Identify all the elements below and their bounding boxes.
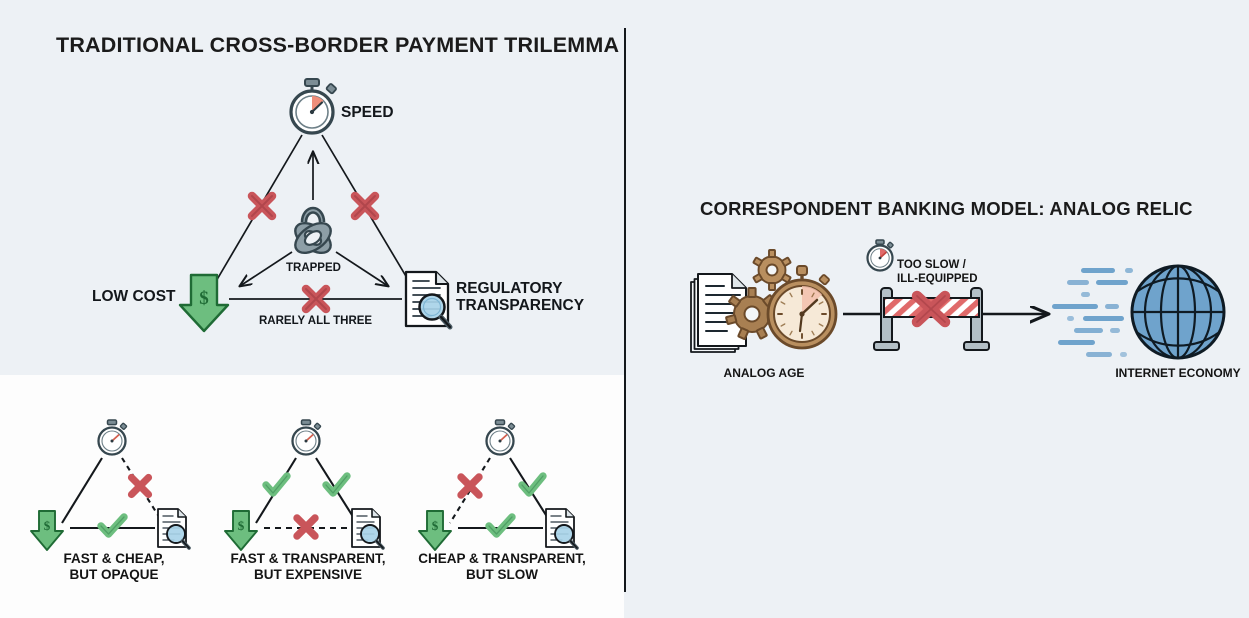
road-barrier-icon (874, 288, 989, 350)
caption-line1: FAST & TRANSPARENT, (230, 551, 385, 566)
arrow-to-lowcost (240, 252, 292, 286)
edge-mark-check (489, 517, 512, 534)
caption-line1: CHEAP & TRANSPARENT, (418, 551, 586, 566)
scenario-caption-fast-and-transparent: FAST & TRANSPARENT, BUT EXPENSIVE (208, 551, 408, 584)
document-magnifier-icon (158, 509, 189, 548)
caption-line2: BUT OPAQUE (69, 567, 158, 582)
rarely-all-three-label: RARELY ALL THREE (259, 315, 372, 328)
dollar-down-arrow-icon: $ (180, 275, 228, 331)
left-panel: TRADITIONAL CROSS-BORDER PAYMENT TRILEMM… (0, 0, 624, 618)
scenario-caption-fast-and-cheap: FAST & CHEAP, BUT OPAQUE (14, 551, 214, 584)
scenario-caption-cheap-and-transparent: CHEAP & TRANSPARENT, BUT SLOW (402, 551, 602, 584)
scenario-cheap-and-transparent: $ (419, 420, 577, 550)
document-magnifier-icon (546, 509, 577, 548)
document-magnifier-icon (352, 509, 383, 548)
edge-mark-check (101, 517, 124, 534)
svg-text:$: $ (44, 518, 51, 533)
stopwatch-icon (487, 420, 515, 455)
stopwatch-icon (868, 240, 894, 271)
barrier-note-line2: ILL-EQUIPPED (897, 273, 978, 285)
arrow-to-regulatory (336, 252, 388, 286)
node-label-regulatory-transparency: REGULATORY TRANSPARENCY (456, 280, 584, 315)
stopwatch-icon (293, 420, 321, 455)
svg-text:$: $ (238, 518, 245, 533)
scenarios-diagram: $ (0, 408, 624, 568)
edge-cost-to-speed (62, 458, 102, 523)
caption-line2: BUT EXPENSIVE (254, 567, 362, 582)
barrier-note-line1: TOO SLOW / (897, 259, 966, 271)
edge-mark-check (266, 476, 287, 493)
globe-icon (1132, 266, 1224, 358)
scenario-fast-and-transparent: $ (225, 420, 383, 550)
node-label-regulatory-line2: TRANSPARENCY (456, 297, 584, 314)
node-label-regulatory-line1: REGULATORY (456, 280, 563, 297)
scenario-fast-and-cheap: $ (31, 420, 189, 550)
stopwatch-icon (291, 79, 337, 133)
caption-line2: BUT SLOW (466, 567, 538, 582)
trapped-label: TRAPPED (286, 262, 341, 275)
barrier-note: TOO SLOW / ILL-EQUIPPED (897, 258, 978, 286)
svg-text:$: $ (432, 518, 439, 533)
right-panel: CORRESPONDENT BANKING MODEL: ANALOG RELI… (626, 0, 1249, 618)
edge-mark-x-speed-lowcost (252, 196, 272, 216)
internet-economy-label: INTERNET ECONOMY (1078, 366, 1249, 380)
dollar-down-arrow-icon: $ (225, 511, 257, 550)
svg-text:$: $ (199, 288, 209, 309)
speed-streaks-icon (1052, 268, 1133, 357)
dollar-down-arrow-icon: $ (31, 511, 63, 550)
dollar-down-arrow-icon: $ (419, 511, 451, 550)
node-label-speed: SPEED (341, 104, 394, 121)
caption-line1: FAST & CHEAP, (63, 551, 164, 566)
edge-mark-x (132, 478, 149, 495)
edge-mark-check (522, 476, 543, 493)
analog-age-label: ANALOG AGE (664, 366, 864, 380)
node-label-low-cost: LOW COST (92, 288, 176, 305)
document-magnifier-icon (406, 272, 450, 327)
edge-mark-x-speed-regulatory (355, 196, 375, 216)
section-title: CORRESPONDENT BANKING MODEL: ANALOG RELI… (700, 198, 1193, 220)
stopwatch-icon (99, 420, 127, 455)
knot-icon (290, 208, 336, 259)
